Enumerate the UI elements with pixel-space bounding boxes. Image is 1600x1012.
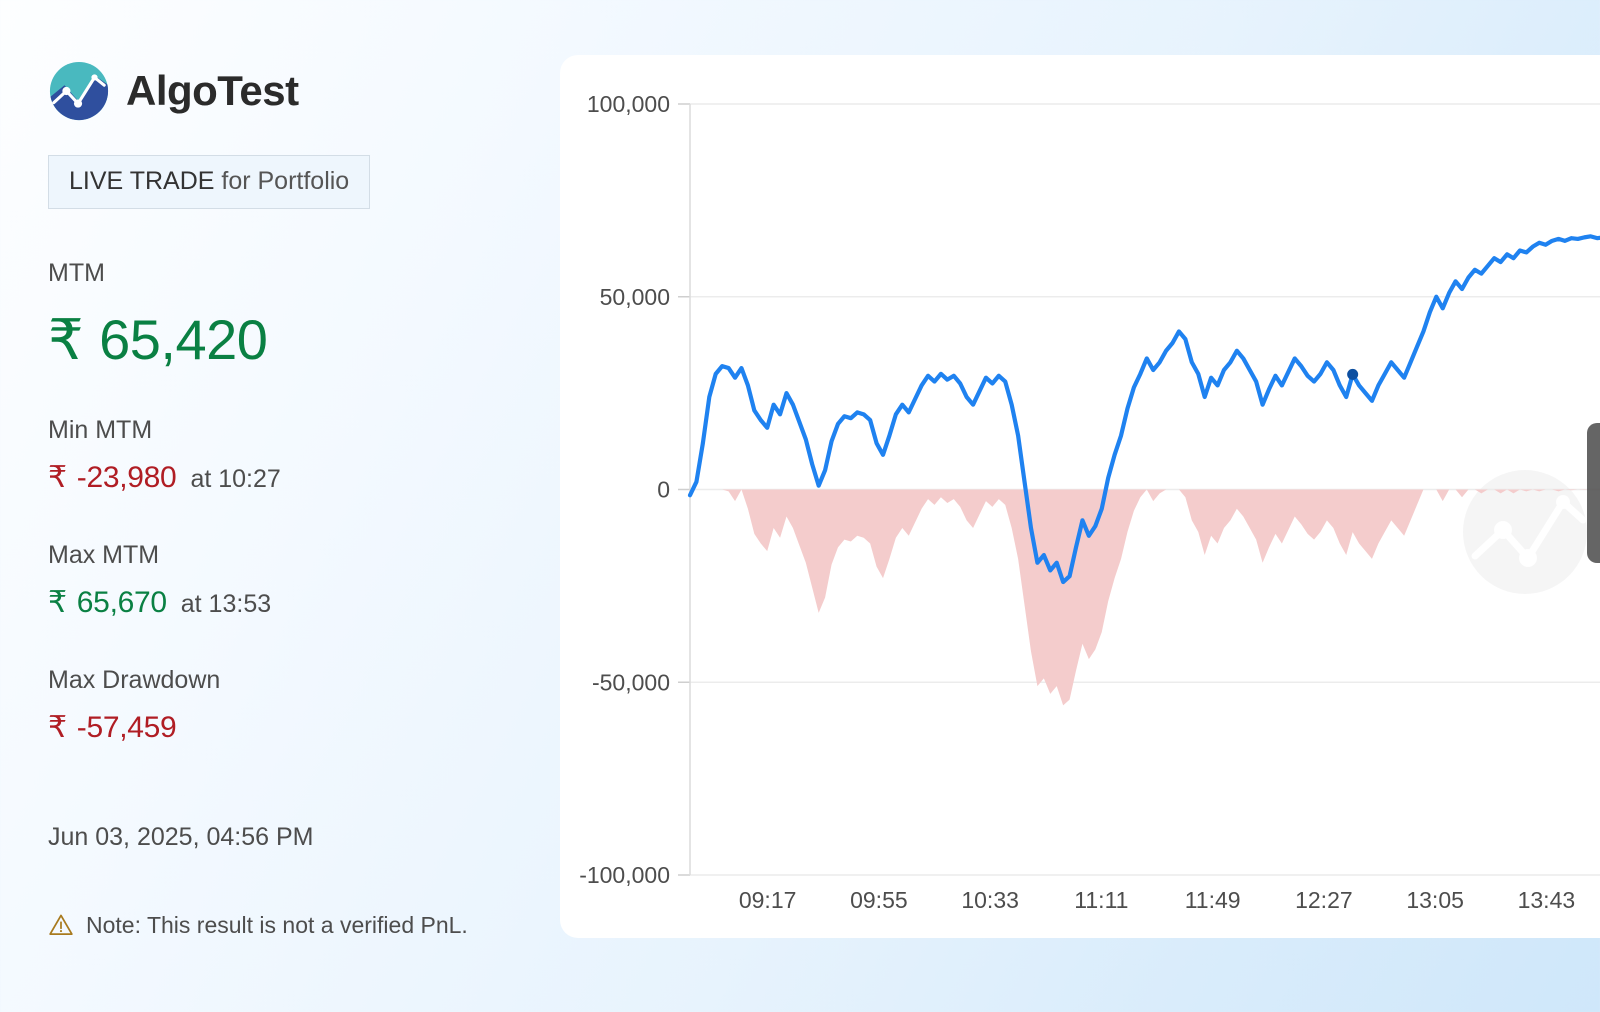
stat-max-drawdown-value: ₹ -57,459	[48, 713, 560, 743]
badge-light-text: for Portfolio	[214, 167, 349, 195]
brand-name: AlgoTest	[126, 70, 299, 112]
chart-tooltip: 12:37 MTM: ₹ 29,870 Drawdown: ₹ -11,060	[1587, 423, 1600, 563]
stat-mtm-value: ₹ 65,420	[48, 312, 560, 368]
y-tick-label: 50,000	[600, 284, 670, 310]
stat-mtm-currency: ₹	[48, 312, 83, 368]
y-tick-label: -50,000	[592, 669, 670, 695]
y-tick-label: 0	[657, 477, 670, 503]
stat-max-mtm-time: at 13:53	[181, 592, 271, 617]
chart-card: AlgoTest100,00050,0000-50,000-100,00009:…	[560, 55, 1600, 938]
badge-strong-text: LIVE TRADE	[69, 167, 214, 195]
y-tick-label: -100,000	[579, 862, 670, 888]
stat-max-drawdown: Max Drawdown ₹ -57,459	[48, 668, 560, 743]
stat-min-mtm-value: ₹ -23,980 at 10:27	[48, 463, 560, 493]
verification-note-text: Note: This result is not a verified PnL.	[86, 914, 468, 937]
x-tick-label: 11:49	[1185, 887, 1241, 913]
verification-note: Note: This result is not a verified PnL.	[48, 912, 560, 938]
stat-mtm-label: MTM	[48, 261, 560, 286]
x-tick-label: 10:33	[961, 887, 1019, 913]
stat-max-mtm-amount: 65,670	[77, 588, 167, 618]
stat-max-mtm-label: Max MTM	[48, 543, 560, 568]
summary-sidebar: AlgoTest LIVE TRADE for Portfolio MTM ₹ …	[0, 0, 560, 1012]
warning-triangle-icon	[48, 912, 74, 938]
stat-max-drawdown-label: Max Drawdown	[48, 668, 560, 693]
stat-min-mtm-label: Min MTM	[48, 418, 560, 443]
stat-mtm: MTM ₹ 65,420	[48, 261, 560, 368]
drawdown-area	[690, 490, 1600, 706]
stat-max-mtm: Max MTM ₹ 65,670 at 13:53	[48, 543, 560, 618]
stat-max-drawdown-amount: -57,459	[77, 713, 177, 743]
mtm-drawdown-chart[interactable]: AlgoTest100,00050,0000-50,000-100,00009:…	[560, 55, 1600, 938]
stat-min-mtm-amount: -23,980	[77, 463, 177, 493]
algotest-logo-icon	[48, 60, 110, 122]
hover-point	[1347, 369, 1358, 380]
chart-area: AlgoTest100,00050,0000-50,000-100,00009:…	[560, 0, 1600, 1012]
stat-min-mtm-time: at 10:27	[190, 467, 280, 492]
stat-mtm-amount: 65,420	[99, 312, 267, 368]
stat-max-drawdown-currency: ₹	[48, 713, 67, 743]
x-tick-label: 09:17	[739, 887, 797, 913]
x-tick-label: 13:05	[1406, 887, 1464, 913]
stat-max-mtm-currency: ₹	[48, 588, 67, 618]
x-tick-label: 12:27	[1295, 887, 1353, 913]
app-root: AlgoTest LIVE TRADE for Portfolio MTM ₹ …	[0, 0, 1600, 1012]
x-tick-label: 11:11	[1074, 887, 1128, 913]
report-timestamp: Jun 03, 2025, 04:56 PM	[48, 825, 560, 850]
stat-min-mtm-currency: ₹	[48, 463, 67, 493]
brand-header: AlgoTest	[48, 60, 560, 122]
x-tick-label: 13:43	[1518, 887, 1576, 913]
y-tick-label: 100,000	[587, 91, 670, 117]
live-trade-badge[interactable]: LIVE TRADE for Portfolio	[48, 155, 370, 209]
stat-max-mtm-value: ₹ 65,670 at 13:53	[48, 588, 560, 618]
stat-min-mtm: Min MTM ₹ -23,980 at 10:27	[48, 418, 560, 493]
x-tick-label: 09:55	[850, 887, 908, 913]
